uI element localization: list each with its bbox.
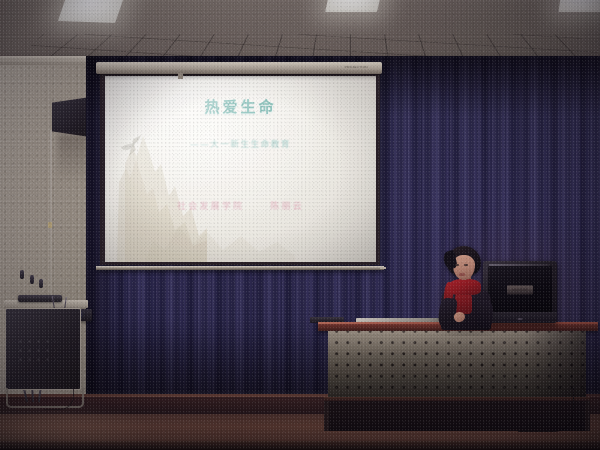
microphone-icon[interactable]	[39, 279, 43, 288]
floor-foreground-shadow	[0, 441, 600, 450]
monitor-badge: MONITOR	[507, 285, 533, 294]
lecture-podium[interactable]	[318, 322, 598, 432]
cart-speaker-cabinet	[5, 308, 81, 390]
presenter-eye	[455, 264, 459, 266]
power-button[interactable]	[518, 318, 523, 320]
wall-stain	[58, 134, 88, 184]
microphone-icon[interactable]	[30, 275, 34, 284]
presenter-eye	[464, 264, 468, 266]
podium-leg	[324, 401, 329, 431]
slide-surface: 热爱生命 ——大一新生生命教育 社会发展学院 陈丽云	[105, 76, 376, 262]
podium-leg	[585, 401, 590, 431]
housing-bracket	[178, 73, 183, 79]
projection-screen: 热爱生命 ——大一新生生命教育 社会发展学院 陈丽云	[100, 73, 380, 265]
presenter-inner-top	[455, 292, 472, 314]
screen-weight-bar[interactable]	[96, 266, 384, 270]
ceiling-light-panel	[325, 0, 383, 12]
slide-title: 热爱生命	[105, 96, 376, 117]
ceiling-light-panel	[558, 0, 600, 12]
wall-switch[interactable]	[48, 222, 52, 228]
presenter-arm-right	[477, 300, 493, 328]
microphone-base	[18, 295, 62, 302]
slide-author-org: 社会发展学院	[177, 202, 244, 212]
ceiling-light-panel	[58, 0, 126, 23]
audio-equipment-cart[interactable]	[4, 300, 88, 408]
slide-text-layer: 热爱生命 ——大一新生生命教育 社会发展学院 陈丽云	[105, 76, 376, 262]
housing-brand-label: PROJECTION	[345, 65, 368, 69]
microphone-icon[interactable]	[20, 270, 24, 279]
screen-roller-housing[interactable]: PROJECTION	[96, 62, 382, 74]
presenter	[437, 246, 499, 330]
slide-author-line: 社会发展学院 陈丽云	[105, 199, 376, 212]
presenter-mouth	[459, 273, 465, 276]
slide-subtitle: ——大一新生生命教育	[105, 138, 376, 150]
presenter-scarf	[449, 279, 481, 295]
lecture-hall-photo: PROJECTION 热爱生命 ——大一新生生命教育 社会发展学院 陈	[0, 0, 600, 450]
cable	[468, 404, 542, 430]
slide-author-name: 陈丽云	[270, 202, 304, 212]
